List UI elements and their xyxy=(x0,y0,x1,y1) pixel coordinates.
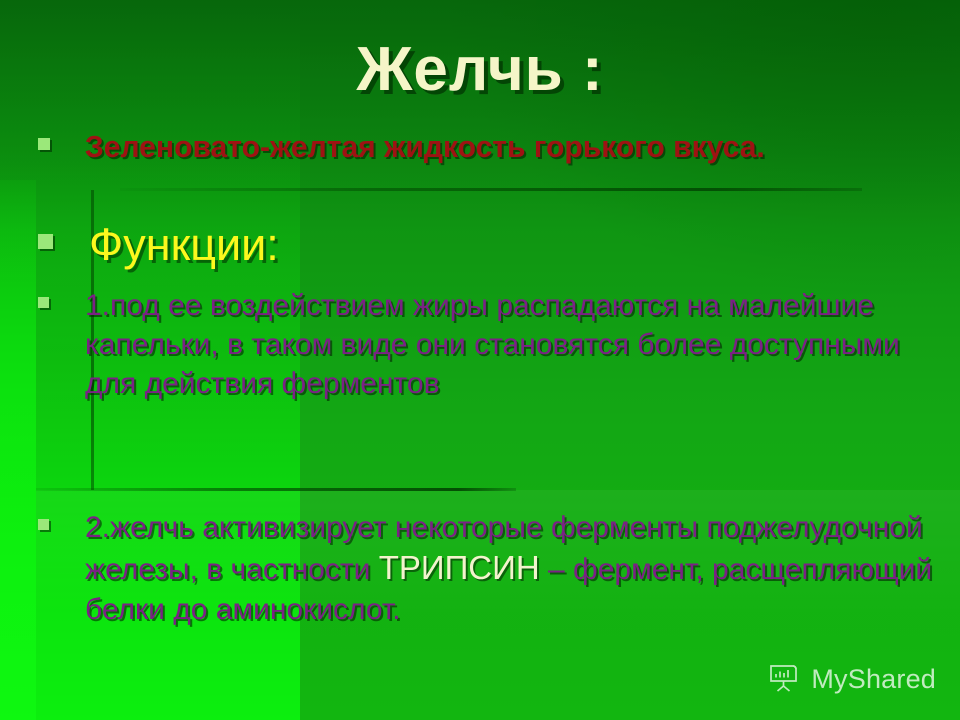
watermark: MyShared xyxy=(767,662,936,696)
bullet-item-function-1: 1.под ее воздействием жиры распадаются н… xyxy=(38,286,938,403)
bullet-item-function-2: 2.желчь активизирует некоторые ферменты … xyxy=(38,508,948,629)
square-bullet-icon xyxy=(38,297,49,308)
divider-line-lower xyxy=(36,488,516,491)
square-bullet-icon xyxy=(38,138,50,150)
square-bullet-icon xyxy=(38,519,49,530)
divider-line-upper xyxy=(120,188,862,191)
bullet-text-function-1: 1.под ее воздействием жиры распадаются н… xyxy=(49,286,938,403)
background-left-edge-band xyxy=(0,180,36,720)
function-2-emphasis-term: ТРИПСИН xyxy=(379,549,540,586)
bullet-item-definition: Зеленовато-желтая жидкость горького вкус… xyxy=(38,126,918,167)
bullet-item-functions-heading: Функции: xyxy=(38,220,638,270)
bullet-text-functions-heading: Функции: xyxy=(53,220,638,270)
bullet-text-definition: Зеленовато-желтая жидкость горького вкус… xyxy=(50,126,892,167)
watermark-label: MyShared xyxy=(811,664,936,695)
slide-title: Желчь : xyxy=(0,34,960,105)
square-bullet-icon xyxy=(38,234,53,249)
presentation-slide: Желчь : Зеленовато-желтая жидкость горьк… xyxy=(0,0,960,720)
bullet-text-function-2: 2.желчь активизирует некоторые ферменты … xyxy=(49,508,948,629)
presentation-board-icon xyxy=(767,662,801,696)
